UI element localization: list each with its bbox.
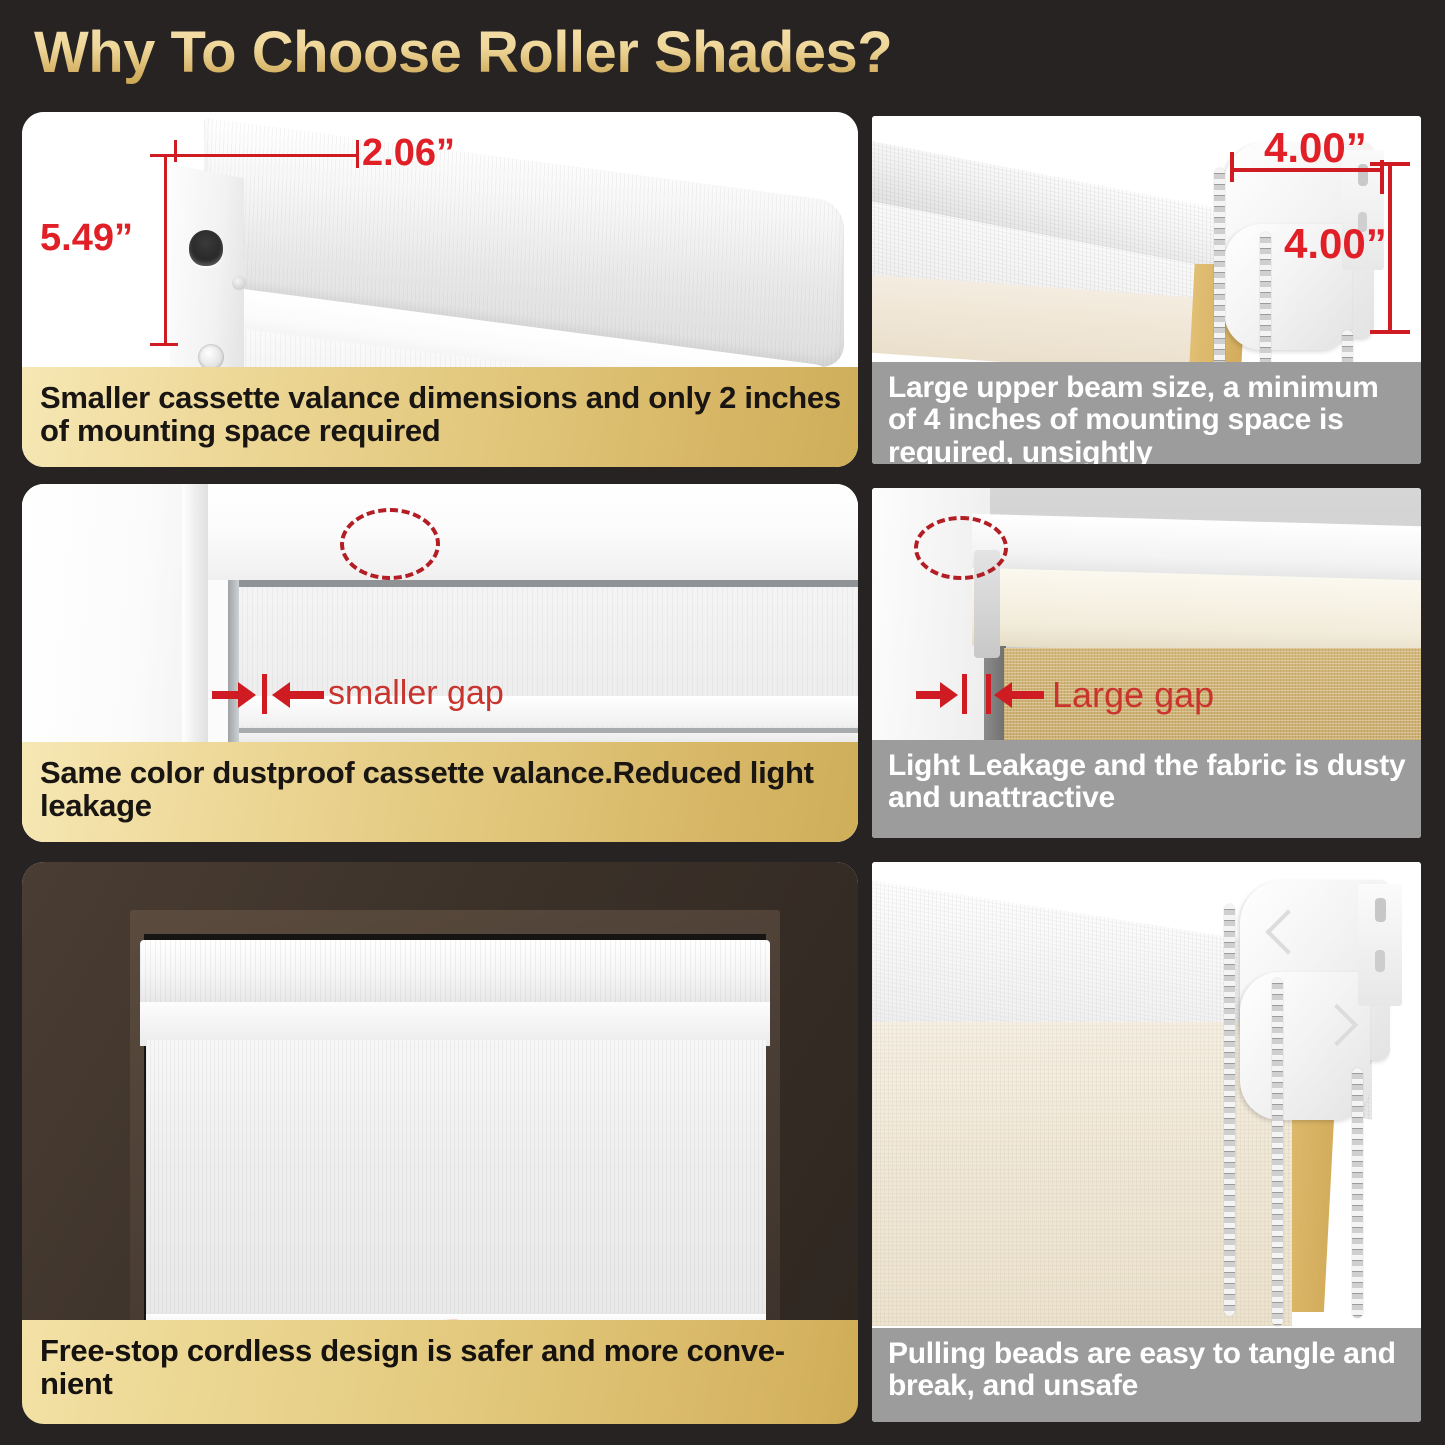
gap-tick-right — [986, 674, 991, 714]
width-dim-tick-right — [356, 140, 359, 168]
panel-4-caption: Light Leakage and the fabric is dusty an… — [872, 740, 1421, 838]
gap-arrow-left-head-icon — [238, 682, 256, 708]
beam-height-label: 4.00” — [1284, 220, 1387, 268]
end-cap-slot-icon — [189, 230, 223, 266]
width-dim-line — [174, 154, 359, 157]
gap-arrow-right-head-icon — [272, 682, 290, 708]
height-dim-line — [164, 154, 167, 346]
height-dimension-label: 5.49” — [40, 217, 133, 260]
beam-width-tick-left — [1230, 152, 1234, 182]
gap-tick — [262, 674, 267, 714]
bracket-slot-icon — [1375, 898, 1386, 922]
valance-top-rail — [237, 580, 858, 587]
panel-3-caption: Same color dustproof cassette valance.Re… — [22, 742, 858, 842]
shade-fabric — [146, 1040, 766, 1328]
panel-6-pulling-beads: Pulling beads are easy to tangle and bre… — [872, 862, 1421, 1422]
panel-1-smaller-cassette: 2.06” 5.49” Smaller cassette valance dim… — [22, 112, 858, 467]
gap-highlight-circle — [914, 516, 1008, 580]
width-dimension-label: 2.06” — [362, 132, 455, 175]
width-dim-tick-left — [174, 140, 177, 162]
end-cap-screw-secondary-icon — [232, 276, 246, 290]
panel-3-dustproof-valance: smaller gap Same color dustproof cassett… — [22, 484, 858, 842]
panel-5-cordless-design: Free-stop cordless design is safer and m… — [22, 862, 858, 1424]
panel-1-caption: Smaller cassette valance dimensions and … — [22, 367, 858, 467]
window-frame-top — [182, 484, 858, 580]
valance-left-channel — [228, 580, 239, 742]
header-bar: Why To Choose Roller Shades? — [0, 0, 1445, 104]
panel-2-caption: Large upper beam size, a minimum of 4 in… — [872, 362, 1421, 464]
beam-height-tick-top — [1370, 162, 1410, 166]
infographic-page: Why To Choose Roller Shades? 2.06” 5.49”… — [0, 0, 1445, 1445]
smaller-gap-label: smaller gap — [328, 674, 504, 713]
bracket-slot-secondary-icon — [1375, 950, 1385, 972]
roller-bracket-lower — [1240, 972, 1370, 1120]
page-title: Why To Choose Roller Shades? — [34, 19, 892, 86]
gap-arrow-right — [290, 691, 324, 699]
beam-width-label: 4.00” — [1264, 124, 1367, 172]
gap-tick-left — [962, 674, 967, 714]
shade-headrail — [140, 940, 770, 1010]
bead-chain-middle — [1260, 232, 1271, 378]
beam-height-tick-bottom — [1370, 330, 1410, 334]
gap-arrow-right-head-icon — [994, 682, 1012, 708]
valance-lower-fabric — [237, 733, 858, 742]
bead-chain-left — [1224, 904, 1235, 1316]
bead-chain-right — [1352, 1068, 1363, 1318]
height-dim-tick-top — [150, 154, 178, 157]
gap-arrow-left-head-icon — [940, 682, 958, 708]
panel-6-caption: Pulling beads are easy to tangle and bre… — [872, 1328, 1421, 1422]
beam-height-dim-line — [1388, 164, 1392, 334]
bead-chain-left — [1214, 168, 1225, 378]
height-dim-tick-bottom — [150, 343, 178, 346]
panel-2-large-beam: 4.00” 4.00” Large upper beam size, a min… — [872, 116, 1421, 464]
panel-5-caption: Free-stop cordless design is safer and m… — [22, 1320, 858, 1424]
gap-arrow-right — [1012, 691, 1044, 699]
bead-chain-middle — [1272, 978, 1283, 1326]
seal-highlight-circle — [340, 508, 440, 580]
panel-4-light-leakage: Large gap Light Leakage and the fabric i… — [872, 488, 1421, 838]
roller-tube-cream — [972, 568, 1421, 659]
large-gap-label: Large gap — [1052, 674, 1214, 716]
